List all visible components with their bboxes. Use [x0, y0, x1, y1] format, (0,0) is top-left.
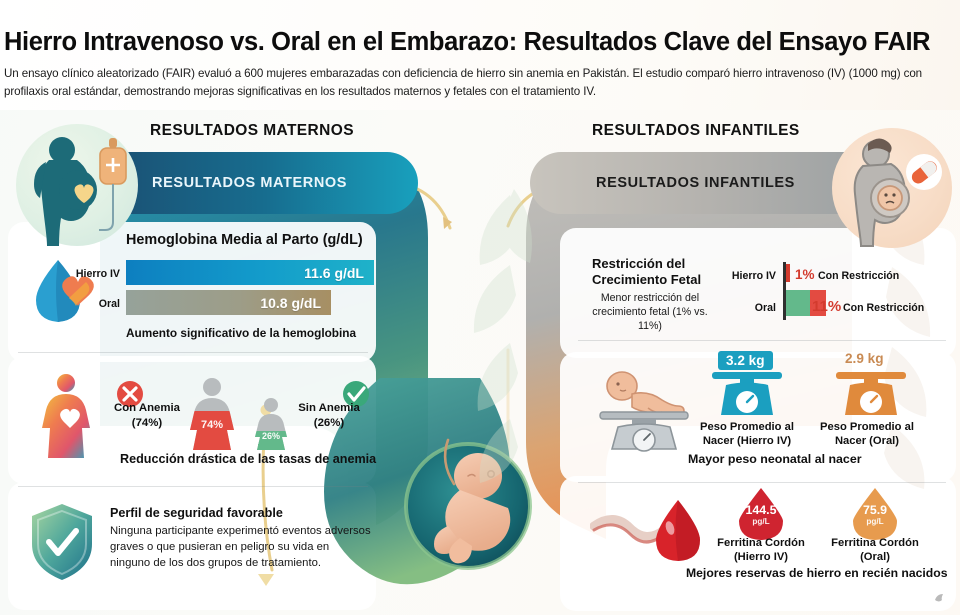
woman-heart-icon — [28, 372, 104, 458]
baby-on-scale-icon — [596, 360, 700, 452]
ferritin-oral-value: 75.9 — [840, 504, 910, 517]
fgr-subtitle: Menor restricción del crecimiento fetal … — [580, 292, 720, 333]
pregnant-woman-iv-icon — [16, 124, 138, 246]
umbilical-cord-blood-icon — [590, 490, 710, 570]
watermark-logo — [932, 591, 948, 607]
hemoglobin-oral-bar: 10.8 g/dL — [126, 290, 331, 315]
birthweight-iv-value: 3.2 kg — [718, 351, 773, 370]
hemoglobin-iv-bar: 11.6 g/dL — [126, 260, 374, 285]
hemoglobin-iv-label: Hierro IV — [58, 268, 120, 280]
fgr-oral-pct: 11% — [812, 298, 841, 315]
safety-body: Ninguna participante experimentó eventos… — [110, 524, 372, 571]
fgr-oral-label: Oral — [712, 302, 776, 314]
birthweight-iv-label: Peso Promedio al Nacer (Hierro IV) — [692, 420, 802, 448]
maternal-section-title: RESULTADOS MATERNOS — [150, 122, 354, 140]
fgr-iv-label: Hierro IV — [712, 270, 776, 282]
maternal-banner: RESULTADOS MATERNOS — [100, 152, 418, 214]
divider-maternal-2 — [18, 486, 368, 487]
ferritin-oral-unit: pg/L — [840, 517, 910, 526]
anemia-with-text: Con Anemia — [114, 402, 180, 414]
infant-banner: RESULTADOS INFANTILES — [530, 152, 852, 214]
ferritin-note: Mejores reservas de hierro en recién nac… — [686, 566, 947, 580]
birthweight-oral-label: Peso Promedio al Nacer (Oral) — [812, 420, 922, 448]
birthweight-note: Mayor peso neonatal al nacer — [688, 452, 862, 466]
scale-iv-icon — [708, 368, 786, 420]
fgr-iv-caption: Con Restricción — [818, 270, 899, 282]
hemoglobin-title: Hemoglobina Media al Parto (g/dL) — [126, 232, 363, 248]
anemia-without-label: Sin Anemia (26%) — [290, 401, 368, 430]
blood-drop-heart-icon — [28, 256, 110, 328]
infant-section-title: RESULTADOS INFANTILES — [592, 122, 800, 140]
anemia-with-label: Con Anemia (74%) — [108, 401, 186, 430]
svg-text:26%: 26% — [262, 431, 280, 441]
ferritin-iv-value: 144.5 — [726, 504, 796, 517]
hemoglobin-oral-value: 10.8 g/dL — [260, 295, 321, 311]
maternal-banner-label: RESULTADOS MATERNOS — [152, 175, 347, 191]
shield-check-icon — [26, 500, 98, 584]
header: Hierro Intravenoso vs. Oral en el Embara… — [0, 0, 960, 110]
svg-text:74%: 74% — [201, 419, 223, 431]
fgr-oral-caption: Con Restricción — [843, 302, 924, 314]
safety-title: Perfil de seguridad favorable — [110, 506, 283, 520]
anemia-without-pct: (26%) — [314, 417, 344, 429]
scale-oral-icon — [832, 368, 910, 420]
page-subtitle: Un ensayo clínico aleatorizado (FAIR) ev… — [4, 65, 954, 100]
ferritin-iv-label: Ferritina Cordón (Hierro IV) — [706, 536, 816, 564]
anemia-note: Reducción drástica de las tasas de anemi… — [120, 452, 376, 466]
ferritin-iv-unit: pg/L — [726, 517, 796, 526]
ferritin-oral-label: Ferritina Cordón (Oral) — [820, 536, 930, 564]
fgr-title: Restricción del Crecimiento Fetal — [592, 256, 717, 287]
anemia-with-pct: (74%) — [132, 417, 162, 429]
pregnant-woman-pill-icon — [832, 128, 952, 248]
hemoglobin-note: Aumento significativo de la hemoglobina — [126, 326, 356, 340]
birthweight-oral-value: 2.9 kg — [845, 351, 884, 366]
divider-infant-2 — [578, 482, 946, 483]
hemoglobin-oral-label: Oral — [58, 298, 120, 310]
divider-infant-1 — [578, 340, 946, 341]
ferritin-iv-value-group: 144.5 pg/L — [726, 504, 796, 526]
hemoglobin-iv-value: 11.6 g/dL — [304, 265, 364, 281]
anemia-without-text: Sin Anemia — [298, 402, 360, 414]
divider-maternal-1 — [18, 352, 368, 353]
infant-banner-label: RESULTADOS INFANTILES — [596, 175, 795, 191]
ferritin-oral-value-group: 75.9 pg/L — [840, 504, 910, 526]
leaf-decoration-left — [452, 175, 562, 505]
infographic-root: Hierro Intravenoso vs. Oral en el Embara… — [0, 0, 960, 615]
page-title: Hierro Intravenoso vs. Oral en el Embara… — [4, 28, 954, 56]
fgr-iv-pct: 1% — [795, 267, 815, 282]
